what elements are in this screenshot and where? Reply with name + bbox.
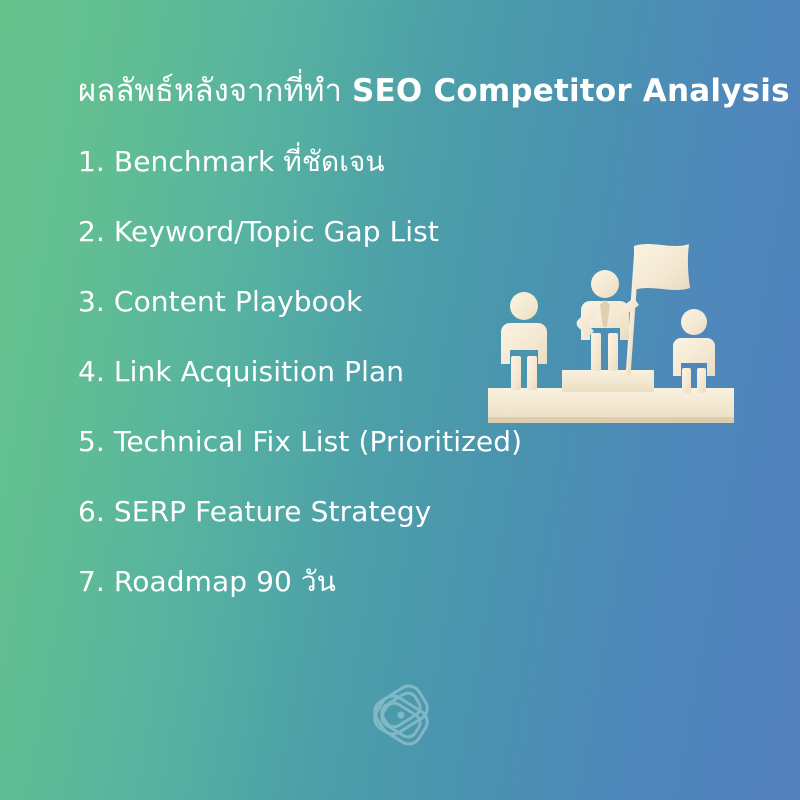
slide-canvas: ผลลัพธ์หลังจากที่ทำ SEO Competitor Analy… xyxy=(0,0,800,800)
list-item: 3. Content Playbook xyxy=(78,287,548,357)
page-title: ผลลัพธ์หลังจากที่ทำ SEO Competitor Analy… xyxy=(78,72,758,111)
winners-podium-illustration xyxy=(480,228,742,440)
page-title-thai: ผลลัพธ์หลังจากที่ทำ xyxy=(78,73,352,109)
list-item: 6. SERP Feature Strategy xyxy=(78,497,548,567)
figure-right xyxy=(673,309,715,393)
list-item: 5. Technical Fix List (Prioritized) xyxy=(78,427,548,497)
list-item: 7. Roadmap 90 วัน xyxy=(78,567,548,637)
deliverables-list: 1. Benchmark ที่ชัดเจน 2. Keyword/Topic … xyxy=(78,147,548,637)
list-item: 4. Link Acquisition Plan xyxy=(78,357,548,427)
podium-center-step xyxy=(562,370,654,392)
figure-left xyxy=(501,292,547,390)
list-item: 2. Keyword/Topic Gap List xyxy=(78,217,548,287)
podium-base xyxy=(488,388,734,423)
list-item: 1. Benchmark ที่ชัดเจน xyxy=(78,147,548,217)
flag-banner xyxy=(634,244,690,290)
interlocked-squares-logo xyxy=(356,676,446,754)
page-title-english: SEO Competitor Analysis xyxy=(352,73,790,109)
